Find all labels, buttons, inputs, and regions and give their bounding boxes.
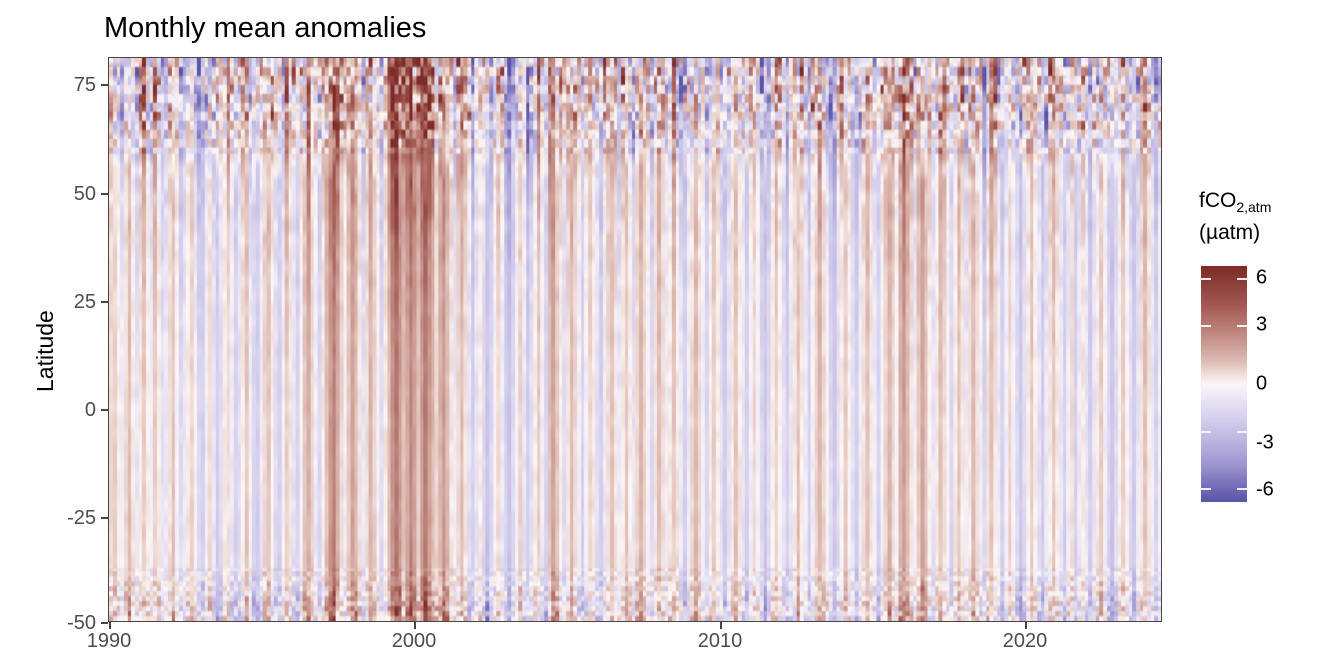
x-tick-mark bbox=[720, 622, 722, 629]
chart-figure: Monthly mean anomalies Latitude 75 50 25… bbox=[0, 0, 1344, 672]
y-tick-mark bbox=[101, 84, 108, 86]
colorbar-label: -6 bbox=[1256, 479, 1274, 502]
x-tick-label: 2000 bbox=[392, 630, 437, 653]
colorbar bbox=[1201, 266, 1247, 502]
page-title: Monthly mean anomalies bbox=[104, 11, 426, 45]
legend-title: fCO2,atm (µatm) bbox=[1199, 188, 1344, 246]
y-tick-label: 25 bbox=[74, 291, 96, 314]
y-tick-label: 50 bbox=[74, 183, 96, 206]
legend: fCO2,atm (µatm) bbox=[1199, 188, 1344, 246]
colorbar-label: -3 bbox=[1256, 432, 1274, 455]
legend-title-units: (µatm) bbox=[1199, 221, 1260, 244]
y-tick-mark bbox=[101, 409, 108, 411]
legend-title-subscript: 2,atm bbox=[1236, 199, 1271, 215]
legend-title-main: fCO bbox=[1199, 189, 1236, 212]
y-tick-label: -25 bbox=[67, 507, 96, 530]
colorbar-tick bbox=[1237, 278, 1247, 280]
colorbar-label: 3 bbox=[1256, 314, 1267, 337]
colorbar-tick bbox=[1237, 488, 1247, 490]
x-tick-mark bbox=[1025, 622, 1027, 629]
colorbar-tick bbox=[1201, 325, 1211, 327]
colorbar-tick bbox=[1201, 431, 1211, 433]
x-tick-label: 2010 bbox=[698, 630, 743, 653]
colorbar-tick bbox=[1201, 278, 1211, 280]
y-tick-mark bbox=[101, 193, 108, 195]
colorbar-label: 0 bbox=[1256, 373, 1267, 396]
colorbar-tick bbox=[1237, 325, 1247, 327]
y-axis-label: Latitude bbox=[32, 310, 59, 392]
y-tick-mark bbox=[101, 517, 108, 519]
y-tick-mark bbox=[101, 622, 108, 624]
x-tick-label: 1990 bbox=[87, 630, 132, 653]
x-tick-label: 2020 bbox=[1003, 630, 1048, 653]
y-tick-label: 75 bbox=[74, 74, 96, 97]
y-tick-label: 0 bbox=[85, 399, 96, 422]
colorbar-gradient bbox=[1201, 266, 1247, 502]
y-tick-mark bbox=[101, 301, 108, 303]
colorbar-tick bbox=[1201, 488, 1211, 490]
heatmap-raster bbox=[109, 58, 1161, 621]
colorbar-tick bbox=[1237, 431, 1247, 433]
x-tick-mark bbox=[414, 622, 416, 629]
heatmap-panel bbox=[108, 57, 1162, 622]
colorbar-label: 6 bbox=[1256, 267, 1267, 290]
x-tick-mark bbox=[109, 622, 111, 629]
